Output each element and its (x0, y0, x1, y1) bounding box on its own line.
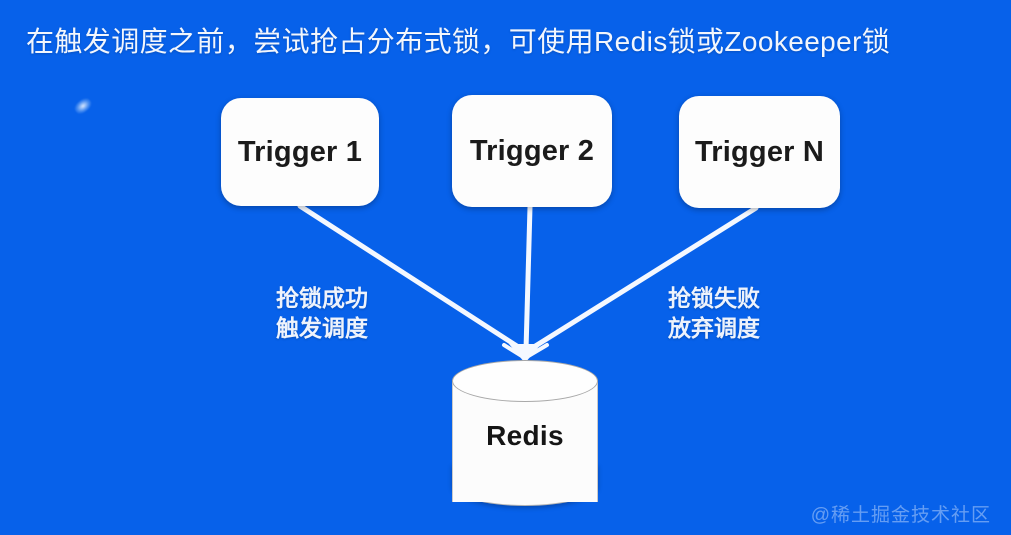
node-trigger-n[interactable]: Trigger N (679, 96, 840, 208)
cursor-artifact-icon (72, 96, 94, 117)
edge-label-lock-failure-line1: 抢锁失败 (668, 283, 760, 313)
node-trigger-2[interactable]: Trigger 2 (452, 95, 612, 207)
node-redis[interactable]: Redis (452, 360, 598, 520)
page-title: 在触发调度之前，尝试抢占分布式锁，可使用Redis锁或Zookeeper锁 (26, 22, 986, 62)
edge-label-lock-failure-line2: 放弃调度 (668, 313, 760, 343)
edge-label-lock-success-line2: 触发调度 (276, 313, 368, 343)
arrow-fan-left (504, 345, 525, 358)
edge-label-lock-success-line1: 抢锁成功 (276, 283, 368, 313)
node-trigger-n-label: Trigger N (695, 136, 824, 169)
node-trigger-1-label: Trigger 1 (238, 136, 362, 169)
edge-label-lock-failure: 抢锁失败 放弃调度 (668, 283, 760, 343)
arrow-fan-right (525, 345, 547, 358)
watermark: @稀土掘金技术社区 (811, 500, 991, 527)
node-trigger-2-label: Trigger 2 (470, 135, 594, 168)
slide-canvas: 在触发调度之前，尝试抢占分布式锁，可使用Redis锁或Zookeeper锁 Tr… (0, 0, 1011, 535)
edge-label-lock-success: 抢锁成功 触发调度 (276, 283, 368, 343)
node-trigger-1[interactable]: Trigger 1 (221, 98, 379, 206)
redis-cylinder-top-ellipse (452, 360, 598, 402)
edge-trigger2-to-redis (526, 207, 530, 350)
node-redis-label: Redis (452, 420, 598, 452)
